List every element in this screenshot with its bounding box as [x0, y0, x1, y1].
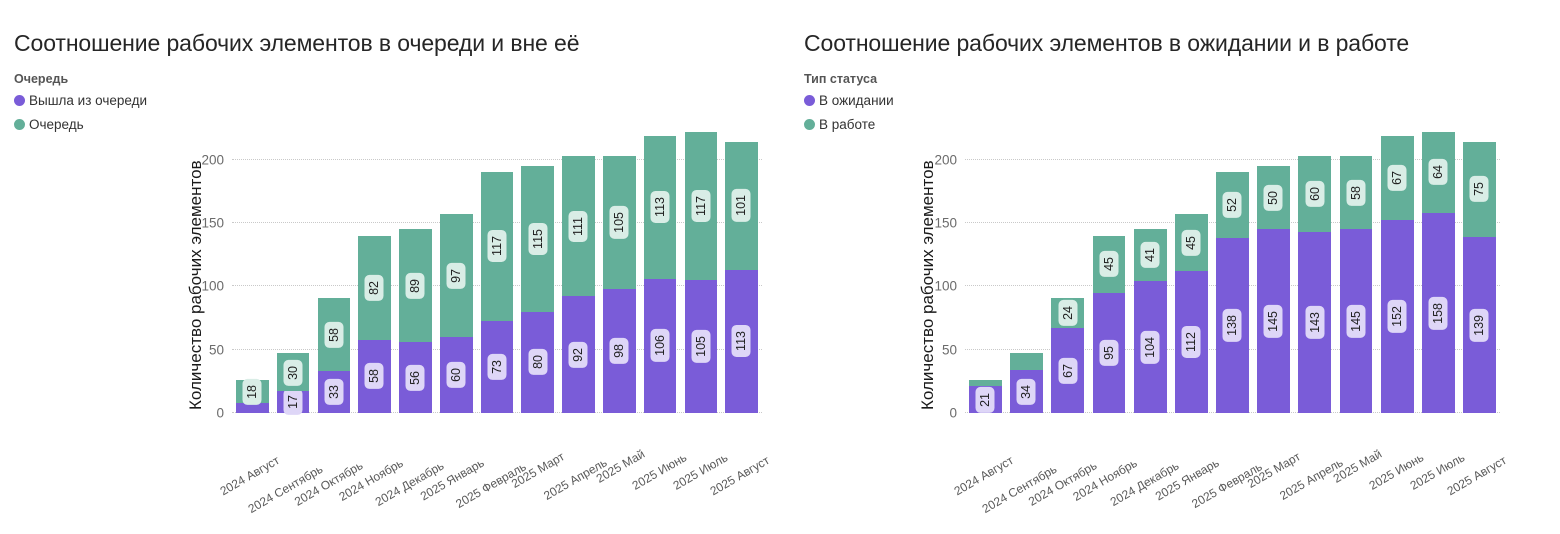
legend-item-label: В ожидании [819, 93, 894, 108]
bar-value-label: 117 [692, 190, 711, 222]
bar-segment[interactable] [969, 380, 1002, 386]
bar-segment[interactable]: 80 [521, 312, 554, 413]
legend-swatch-teal-icon [804, 119, 815, 130]
bar-value-label: 60 [447, 362, 466, 388]
bar-value-label: 105 [610, 206, 629, 239]
bar-value-label: 45 [1182, 230, 1201, 256]
bar-segment[interactable]: 24 [1051, 298, 1084, 328]
bar-group[interactable]: 113101 [725, 142, 758, 413]
bar-segment[interactable]: 106 [644, 279, 677, 413]
page-title: Соотношение рабочих элементов в ожидании… [804, 30, 1409, 57]
bar-value-label: 58 [325, 322, 344, 348]
bar-segment[interactable]: 143 [1298, 232, 1331, 413]
bar-segment[interactable]: 111 [562, 156, 595, 297]
bar-value-label: 67 [1059, 358, 1078, 384]
bar-segment[interactable]: 45 [1175, 214, 1208, 271]
bar-group[interactable]: 98105 [603, 156, 636, 413]
bar-segment[interactable]: 105 [685, 280, 718, 413]
bar-segment[interactable]: 105 [603, 156, 636, 289]
bar-segment[interactable]: 113 [725, 270, 758, 413]
bar-group[interactable]: 6097 [440, 214, 473, 413]
legend: Очередь Вышла из очереди Очередь [14, 72, 147, 141]
bar-segment[interactable]: 101 [725, 142, 758, 270]
bar-group[interactable]: 18 [236, 380, 269, 413]
bar-value-label: 64 [1429, 159, 1448, 185]
bar-segment[interactable]: 41 [1134, 229, 1167, 281]
bar-segment[interactable]: 158 [1422, 213, 1455, 413]
bar-group[interactable]: 5882 [358, 236, 391, 413]
bar-segment[interactable]: 117 [685, 132, 718, 280]
bar-value-label: 115 [529, 223, 548, 255]
bar-segment[interactable]: 56 [399, 342, 432, 413]
bar-value-label: 58 [1347, 180, 1366, 206]
bar-segment[interactable]: 33 [318, 371, 351, 413]
gridline: 200 [965, 159, 1500, 160]
legend-item-queue[interactable]: Очередь [14, 117, 147, 132]
legend-item-out-of-queue[interactable]: Вышла из очереди [14, 93, 147, 108]
bar-segment[interactable]: 117 [481, 172, 514, 320]
bar-value-label: 60 [1306, 181, 1325, 207]
bar-value-label: 89 [406, 273, 425, 299]
bar-group[interactable]: 1730 [277, 353, 310, 413]
bar-value-label: 67 [1388, 165, 1407, 191]
bar-value-label: 139 [1470, 309, 1489, 342]
bar-group[interactable]: 3358 [318, 298, 351, 413]
bar-segment[interactable]: 45 [1093, 236, 1126, 293]
y-axis-tick-label: 0 [216, 406, 224, 421]
dashboard-canvas: Соотношение рабочих элементов в очереди … [0, 0, 1560, 534]
bar-value-label: 92 [569, 342, 588, 368]
bar-value-label: 112 [1182, 326, 1201, 358]
bar-segment[interactable]: 58 [1340, 156, 1373, 229]
bar-value-label: 106 [651, 329, 670, 362]
bar-value-label: 18 [243, 379, 262, 405]
bar-value-label: 97 [447, 263, 466, 289]
bar-group[interactable]: 21 [969, 380, 1002, 413]
legend-item-label: Очередь [29, 117, 84, 132]
bar-value-label: 80 [529, 349, 548, 375]
y-axis-tick-label: 100 [201, 279, 224, 294]
bar-value-label: 50 [1264, 185, 1283, 211]
bar-segment[interactable]: 145 [1257, 229, 1290, 413]
bar-value-label: 45 [1100, 251, 1119, 277]
bar-value-label: 105 [692, 330, 711, 363]
bar-segment[interactable]: 60 [1298, 156, 1331, 232]
legend-swatch-purple-icon [14, 95, 25, 106]
bar-value-label: 111 [569, 211, 588, 242]
bar-segment[interactable]: 97 [440, 214, 473, 337]
y-axis-tick-label: 200 [201, 152, 224, 167]
bar-value-label: 158 [1429, 297, 1448, 330]
bar-group[interactable]: 14558 [1340, 156, 1373, 413]
bar-segment[interactable]: 52 [1216, 172, 1249, 238]
legend-item-in-progress[interactable]: В работе [804, 117, 894, 132]
bar-segment[interactable]: 21 [969, 386, 1002, 413]
y-axis-tick-label: 200 [934, 152, 957, 167]
bar-group[interactable]: 5689 [399, 229, 432, 413]
legend-title: Очередь [14, 72, 147, 86]
bar-value-label: 33 [325, 379, 344, 405]
bar-value-label: 143 [1306, 306, 1325, 339]
legend-item-waiting[interactable]: В ожидании [804, 93, 894, 108]
y-axis-tick-label: 50 [942, 342, 957, 357]
bar-value-label: 56 [406, 365, 425, 391]
bar-segment[interactable]: 30 [277, 353, 310, 391]
bar-segment[interactable]: 113 [644, 136, 677, 279]
bar-value-label: 152 [1388, 300, 1407, 333]
plot-area-0: 0501001502001817303358588256896097731178… [232, 128, 762, 413]
bar-segment[interactable]: 73 [481, 321, 514, 413]
bar-segment[interactable]: 112 [1175, 271, 1208, 413]
bar-value-label: 52 [1223, 192, 1242, 218]
bar-value-label: 104 [1141, 331, 1160, 364]
bar-value-label: 117 [488, 230, 507, 262]
bar-group[interactable]: 10441 [1134, 229, 1167, 413]
bar-group[interactable]: 11245 [1175, 214, 1208, 413]
bar-value-label: 30 [284, 360, 303, 386]
y-axis-tick-label: 150 [201, 216, 224, 231]
legend-item-label: В работе [819, 117, 875, 132]
bar-segment[interactable]: 18 [236, 380, 269, 403]
legend-title: Тип статуса [804, 72, 894, 86]
bar-value-label: 101 [732, 189, 751, 222]
bar-group[interactable]: 80115 [521, 166, 554, 413]
chart-panel-queue: Соотношение рабочих элементов в очереди … [0, 0, 790, 534]
bar-value-label: 21 [976, 387, 995, 413]
bar-group[interactable]: 6724 [1051, 298, 1084, 413]
bar-group[interactable]: 13852 [1216, 172, 1249, 413]
bar-segment[interactable]: 98 [603, 289, 636, 413]
bar-group[interactable]: 15267 [1381, 136, 1414, 413]
bar-value-label: 75 [1470, 176, 1489, 202]
bar-segment[interactable]: 50 [1257, 166, 1290, 229]
bar-group[interactable]: 73117 [481, 172, 514, 413]
bar-segment[interactable]: 58 [318, 298, 351, 371]
bar-segment[interactable]: 138 [1216, 238, 1249, 413]
bar-value-label: 113 [732, 325, 751, 357]
bar-value-label: 145 [1264, 305, 1283, 338]
bar-segment[interactable]: 67 [1051, 328, 1084, 413]
y-axis-tick-label: 50 [209, 342, 224, 357]
bar-group[interactable]: 34 [1010, 353, 1043, 413]
bar-value-label: 113 [651, 191, 670, 223]
y-axis-tick-label: 0 [949, 406, 957, 421]
bar-segment[interactable]: 95 [1093, 293, 1126, 413]
bar-value-label: 138 [1223, 309, 1242, 342]
legend-swatch-teal-icon [14, 119, 25, 130]
bar-segment[interactable]: 82 [358, 236, 391, 340]
bar-value-label: 145 [1347, 305, 1366, 338]
bar-value-label: 24 [1059, 300, 1078, 326]
bar-group[interactable]: 92111 [562, 156, 595, 413]
plot-area-1: 0501001502002134672495451044111245138521… [965, 128, 1500, 413]
bar-value-label: 82 [365, 275, 384, 301]
page-title: Соотношение рабочих элементов в очереди … [14, 30, 579, 57]
bar-value-label: 98 [610, 338, 629, 364]
bar-segment[interactable]: 104 [1134, 281, 1167, 413]
bar-segment[interactable]: 17 [277, 391, 310, 413]
bar-value-label: 34 [1017, 379, 1036, 405]
bar-group[interactable]: 14550 [1257, 166, 1290, 413]
bar-value-label: 17 [284, 389, 303, 415]
bar-value-label: 58 [365, 363, 384, 389]
bar-segment[interactable]: 60 [440, 337, 473, 413]
bar-segment[interactable]: 58 [358, 340, 391, 413]
chart-panel-status: Соотношение рабочих элементов в ожидании… [790, 0, 1560, 534]
bar-segment[interactable]: 92 [562, 296, 595, 413]
legend-item-label: Вышла из очереди [29, 93, 147, 108]
bar-segment[interactable]: 34 [1010, 370, 1043, 413]
gridline: 200 [232, 159, 762, 160]
legend-swatch-purple-icon [804, 95, 815, 106]
bar-segment[interactable]: 115 [521, 166, 554, 312]
bar-value-label: 95 [1100, 340, 1119, 366]
legend: Тип статуса В ожидании В работе [804, 72, 894, 141]
y-axis-tick-label: 150 [934, 216, 957, 231]
bar-segment[interactable]: 64 [1422, 132, 1455, 213]
bar-group[interactable]: 105117 [685, 132, 718, 413]
bar-group[interactable]: 13975 [1463, 142, 1496, 413]
bar-value-label: 41 [1141, 242, 1160, 268]
bar-segment[interactable]: 75 [1463, 142, 1496, 237]
bar-segment[interactable]: 89 [399, 229, 432, 342]
y-axis-tick-label: 100 [934, 279, 957, 294]
bar-group[interactable]: 14360 [1298, 156, 1331, 413]
bar-group[interactable]: 9545 [1093, 236, 1126, 413]
bar-segment[interactable]: 67 [1381, 136, 1414, 221]
bar-segment[interactable] [1010, 353, 1043, 369]
bar-segment[interactable]: 139 [1463, 237, 1496, 413]
bar-group[interactable]: 106113 [644, 136, 677, 413]
bar-segment[interactable]: 145 [1340, 229, 1373, 413]
bar-group[interactable]: 15864 [1422, 132, 1455, 413]
bar-value-label: 73 [488, 354, 507, 380]
bar-segment[interactable]: 152 [1381, 220, 1414, 413]
